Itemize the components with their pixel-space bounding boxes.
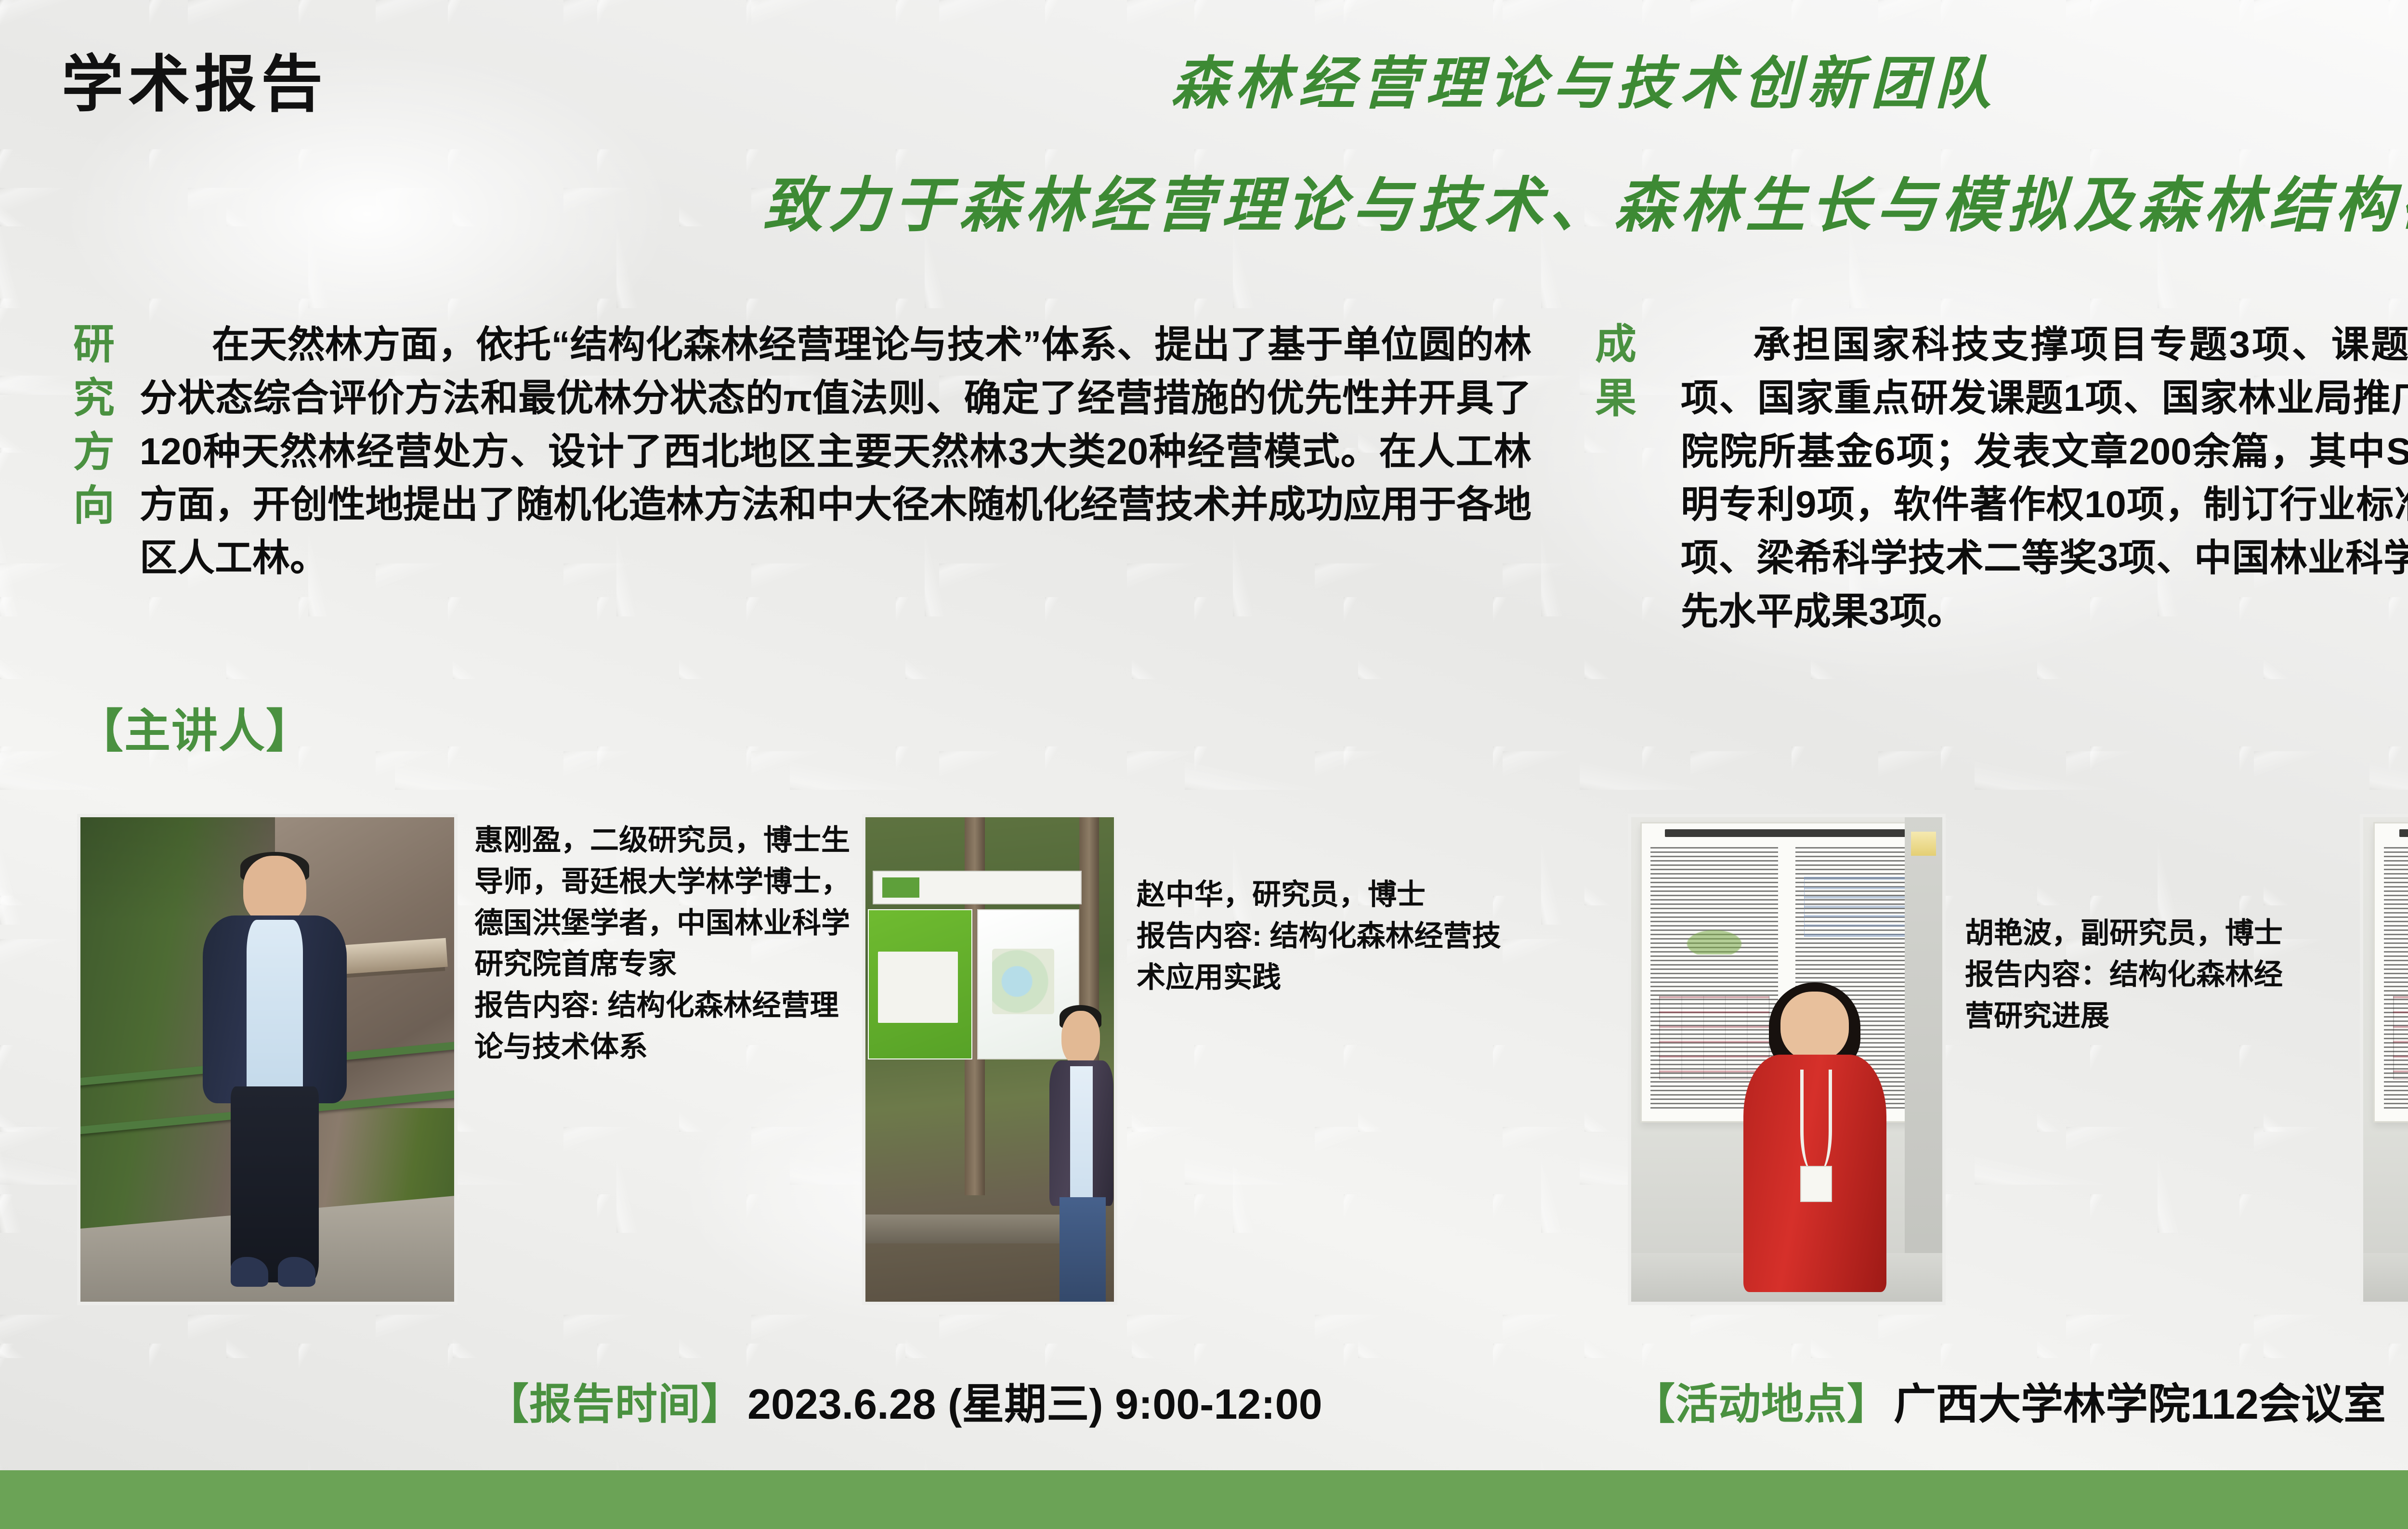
speakers-heading: 【主讲人】 bbox=[77, 693, 313, 760]
speakers-row: 惠刚盈，二级研究员，博士生导师，哥廷根大学林学博士，德国洪堡学者，中国林业科学研… bbox=[0, 814, 2408, 1324]
photo-artwork-mountain-trail bbox=[80, 817, 454, 1302]
achievements-section: 成 果 承担国家科技支撑项目专题3项、课题1项、国家自然科学基金面上项目4项、国… bbox=[1584, 318, 2408, 638]
research-direction-body: 在天然林方面，依托“结构化森林经营理论与技术”体系、提出了基于单位圆的林分状态综… bbox=[140, 318, 1531, 585]
report-time-block: 【报告时间】 2023.6.28 (星期三) 9:00-12:00 bbox=[486, 1370, 1322, 1431]
team-focus-subtitle: 致力于森林经营理论与技术、森林生长与模拟及森林结构研究 bbox=[414, 173, 2408, 239]
speaker-photo-2 bbox=[862, 814, 1117, 1305]
footer-info: 【报告时间】 2023.6.28 (星期三) 9:00-12:00 【活动地点】… bbox=[0, 1370, 2408, 1442]
bottom-green-bar bbox=[0, 1470, 2408, 1529]
photo-artwork-forest-signboard bbox=[865, 817, 1114, 1302]
speaker-card-2: 赵中华，研究员，博士报告内容: 结构化森林经营技术应用实践 bbox=[862, 814, 1604, 1310]
achievements-label-char-1: 成 bbox=[1584, 318, 1647, 372]
speaker-photo-4 bbox=[2360, 814, 2408, 1305]
achievements-label: 成 果 bbox=[1584, 318, 1647, 426]
research-label-char-2: 究 bbox=[63, 372, 125, 426]
research-label-char-4: 向 bbox=[63, 479, 125, 533]
research-label-char-1: 研 bbox=[63, 318, 125, 372]
speaker-bio-2: 赵中华，研究员，博士报告内容: 结构化森林经营技术应用实践 bbox=[1137, 874, 1503, 998]
speaker-photo-1 bbox=[77, 814, 458, 1305]
research-label-char-3: 方 bbox=[63, 426, 125, 480]
speaker-card-4: 张弓乔，助理研究员，博士报告内容:随机体在森林经营中的应用 bbox=[2360, 814, 2408, 1310]
poster-root: 学术报告 森林经营理论与技术创新团队 致力于森林经营理论与技术、森林生长与模拟及… bbox=[0, 0, 2408, 1529]
event-place-label: 【活动地点】 bbox=[1633, 1370, 1890, 1431]
event-place-value: 广西大学林学院112会议室 bbox=[1894, 1370, 2386, 1431]
speaker-card-1: 惠刚盈，二级研究员，博士生导师，哥廷根大学林学博士，德国洪堡学者，中国林业科学研… bbox=[77, 814, 857, 1310]
speaker-bio-3: 胡艳波，副研究员，博士报告内容：结构化森林经营研究进展 bbox=[1965, 913, 2302, 1036]
event-place-block: 【活动地点】 广西大学林学院112会议室 bbox=[1633, 1370, 2386, 1431]
achievements-label-char-2: 果 bbox=[1584, 372, 1647, 426]
team-name-title: 森林经营理论与技术创新团队 bbox=[944, 53, 2225, 116]
report-time-label: 【报告时间】 bbox=[486, 1370, 744, 1431]
report-time-value: 2023.6.28 (星期三) 9:00-12:00 bbox=[747, 1370, 1322, 1431]
research-direction-label: 研 究 方 向 bbox=[63, 318, 125, 533]
speaker-card-3: 胡艳波，副研究员，博士报告内容：结构化森林经营研究进展 bbox=[1628, 814, 2355, 1310]
page-title: 学术报告 bbox=[62, 54, 327, 116]
photo-artwork-conference-poster-beige bbox=[2363, 817, 2408, 1302]
photo-artwork-conference-poster-red bbox=[1631, 817, 1942, 1302]
achievements-body: 承担国家科技支撑项目专题3项、课题1项、国家自然科学基金面上项目4项、国家重点研… bbox=[1681, 318, 2408, 638]
speaker-photo-3 bbox=[1628, 814, 1946, 1305]
research-direction-section: 研 究 方 向 在天然林方面，依托“结构化森林经营理论与技术”体系、提出了基于单… bbox=[63, 318, 1531, 585]
speaker-bio-1: 惠刚盈，二级研究员，博士生导师，哥廷根大学林学博士，德国洪堡学者，中国林业科学研… bbox=[474, 820, 855, 1068]
